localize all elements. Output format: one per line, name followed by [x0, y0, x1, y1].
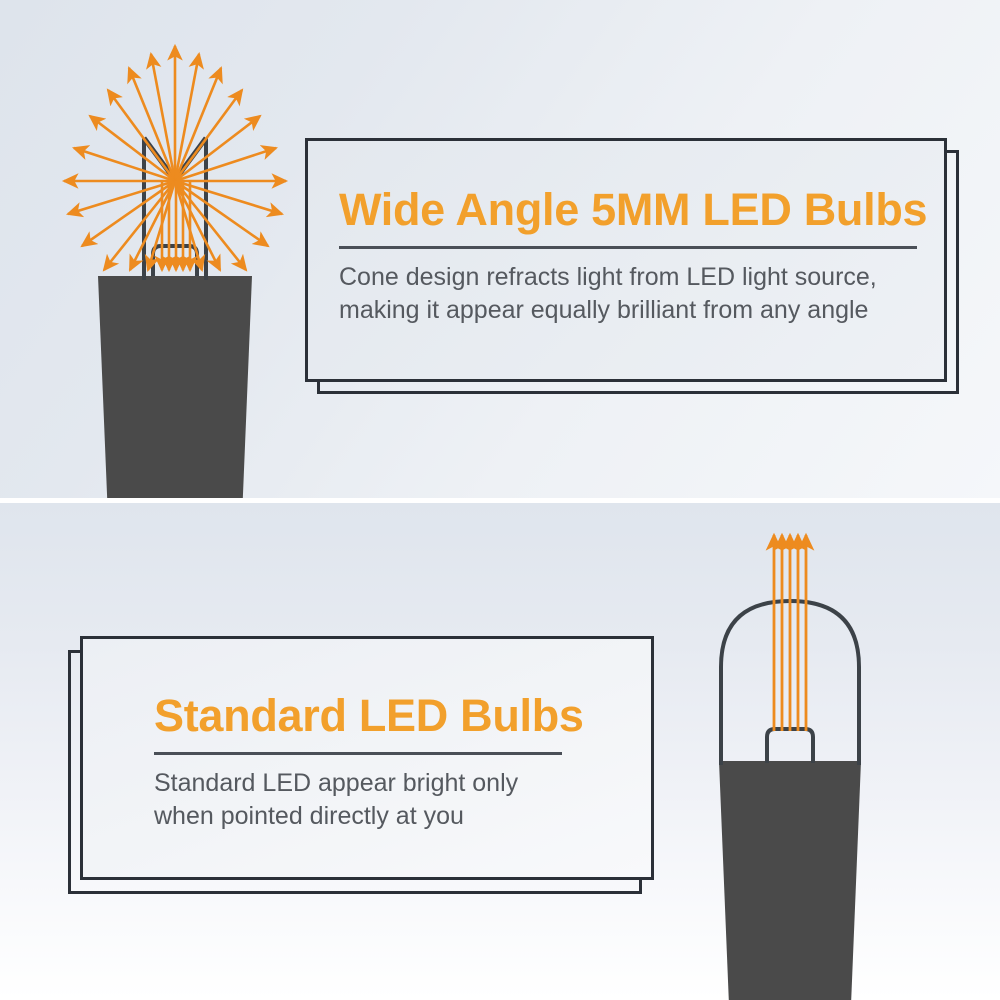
standard-text-card: Standard LED Bulbs Standard LED appear b…: [68, 636, 648, 888]
card-content: Standard LED Bulbs Standard LED appear b…: [154, 690, 594, 832]
card-content: Wide Angle 5MM LED Bulbs Cone design ref…: [339, 184, 919, 326]
light-rays: [774, 535, 806, 731]
headline-rule: [154, 752, 562, 755]
infographic-canvas: Wide Angle 5MM LED Bulbs Cone design ref…: [0, 0, 1000, 1000]
wide-angle-subline-2: making it appear equally brilliant from …: [339, 294, 919, 327]
standard-subline-2: when pointed directly at you: [154, 800, 594, 833]
panel-wide-angle: Wide Angle 5MM LED Bulbs Cone design ref…: [0, 0, 1000, 498]
bulb-base: [98, 276, 252, 498]
standard-headline: Standard LED Bulbs: [154, 690, 594, 742]
wide-angle-led-bulb-diagram: [30, 18, 320, 498]
wide-angle-subline-1: Cone design refracts light from LED ligh…: [339, 261, 919, 294]
headline-rule: [339, 246, 917, 249]
bulb-base: [719, 761, 861, 1000]
standard-led-bulb-diagram: [675, 515, 955, 1000]
wide-angle-headline: Wide Angle 5MM LED Bulbs: [339, 184, 919, 236]
led-chip: [767, 729, 813, 763]
panel-standard: Standard LED Bulbs Standard LED appear b…: [0, 503, 1000, 1000]
standard-subline-1: Standard LED appear bright only: [154, 767, 594, 800]
wide-angle-text-card: Wide Angle 5MM LED Bulbs Cone design ref…: [305, 138, 953, 388]
